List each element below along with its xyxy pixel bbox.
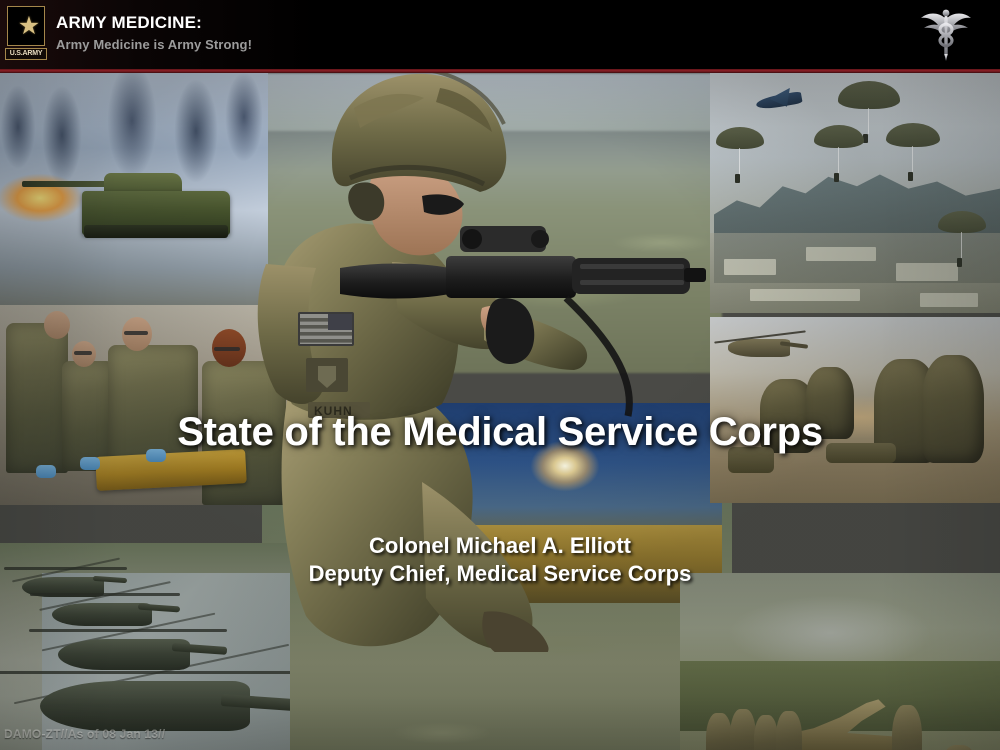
photo-medevac-desert [710,317,1000,503]
rotor-blade [714,330,806,343]
rucksack [728,447,774,473]
artillery-crewman [730,709,756,750]
parachute-canopy [838,81,900,109]
photo-tank-firing-winter [0,73,268,323]
artillery-crewman [754,715,778,750]
parachute-canopy [886,123,940,147]
blackhawk-helicopter [728,339,790,357]
building [920,293,978,307]
eyewear [124,331,148,335]
parachute [814,125,864,163]
artillery-crewman [892,705,922,750]
photo-paratroopers-drop [710,73,1000,313]
building [806,247,876,261]
parachute [938,211,986,247]
parachute-lines [961,232,962,258]
casualty-litter [826,443,896,463]
tank-tracks [84,225,228,238]
artillery-crewman [942,745,976,750]
svg-text:KUHN: KUHN [314,404,353,418]
star-icon: ★ [17,14,41,38]
parachute-lines [838,147,839,173]
classification-line: DAMO-ZT//As of 08 Jan 13// [4,727,165,741]
building [724,259,776,275]
eyewear [74,351,92,355]
building [750,289,860,301]
photo-soldier-aiming-rifle: KUHN [236,12,706,652]
paratrooper [834,173,839,182]
slide-header-bar: ★ U.S.ARMY ARMY MEDICINE: Army Medicine … [0,0,1000,69]
parachute-lines [739,148,740,174]
tail-boom [780,341,808,348]
soldier-kneeling [806,367,854,439]
artillery-crewman [776,711,802,750]
medic-figure [6,323,68,473]
medical-glove [80,457,100,470]
parachute [838,81,900,127]
header-tagline: Army Medicine is Army Strong! [56,37,252,52]
helicopter-body [40,681,250,731]
parachute [886,123,940,163]
presentation-slide: ★ U.S.ARMY ARMY MEDICINE: Army Medicine … [0,0,1000,750]
medical-glove [146,449,166,462]
medic-figure [62,361,114,471]
header-red-divider [0,69,1000,73]
aircraft-icon [755,91,802,111]
medical-glove [36,465,56,478]
parachute-lines [912,146,913,172]
us-army-star-logo: ★ U.S.ARMY [5,6,49,62]
parachute [716,127,764,163]
paratrooper [735,174,740,183]
paratrooper [908,172,913,181]
photo-artillery-firing [680,573,1000,750]
tank-barrel [22,181,114,187]
soldier-kneeling [922,355,984,463]
parachute-canopy [814,125,864,148]
medic-head [44,311,70,339]
parachute-lines [868,108,869,134]
artillery-crewman [706,713,732,750]
header-org-title: ARMY MEDICINE: [56,13,202,33]
building [896,263,958,281]
logo-border-box: ★ [7,6,45,46]
helicopter-body [58,639,190,670]
us-flag-patch [298,312,354,346]
parachute-canopy [716,127,764,149]
paratrooper [957,258,962,267]
blackhawk-helicopter [52,593,152,633]
parachute-canopy [938,211,986,233]
logo-label: U.S.ARMY [5,48,47,60]
caduceus-icon [916,4,976,64]
